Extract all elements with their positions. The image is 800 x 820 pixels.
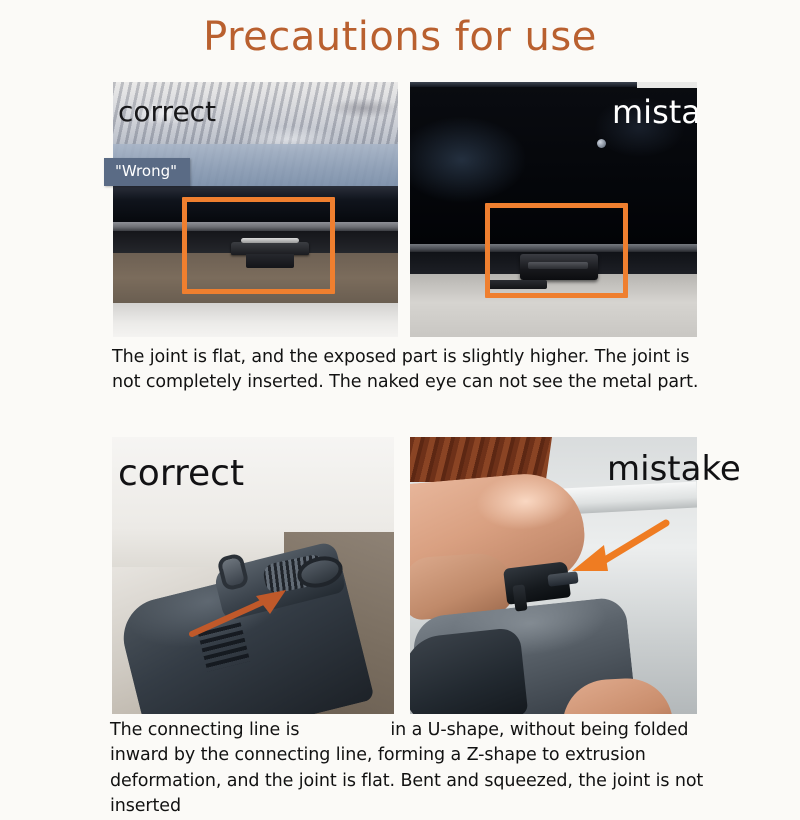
highlight-rect-top-right bbox=[485, 203, 628, 298]
wrong-badge: "Wrong" bbox=[104, 158, 190, 186]
label-correct-bottom: correct bbox=[118, 456, 244, 492]
caption-bottom-part-1: The connecting line is bbox=[110, 720, 299, 740]
screen-indicator-dot bbox=[597, 139, 606, 148]
page-title: Precautions for use bbox=[0, 14, 800, 60]
arrow-mistake-icon bbox=[570, 519, 670, 581]
caption-bottom: The connecting line is in a U-shape, wit… bbox=[110, 718, 730, 820]
label-mistake-bottom: mistake bbox=[607, 452, 741, 486]
arrow-correct-icon bbox=[190, 590, 290, 638]
label-mistake-top: mista bbox=[612, 96, 697, 128]
label-correct-top: correct bbox=[118, 98, 216, 126]
caption-top: The joint is flat, and the exposed part … bbox=[112, 345, 712, 396]
wall-sliver bbox=[637, 82, 697, 88]
highlight-rect-top-left bbox=[182, 197, 335, 294]
floor-surface bbox=[113, 303, 398, 337]
device-body-shadow bbox=[410, 627, 528, 714]
